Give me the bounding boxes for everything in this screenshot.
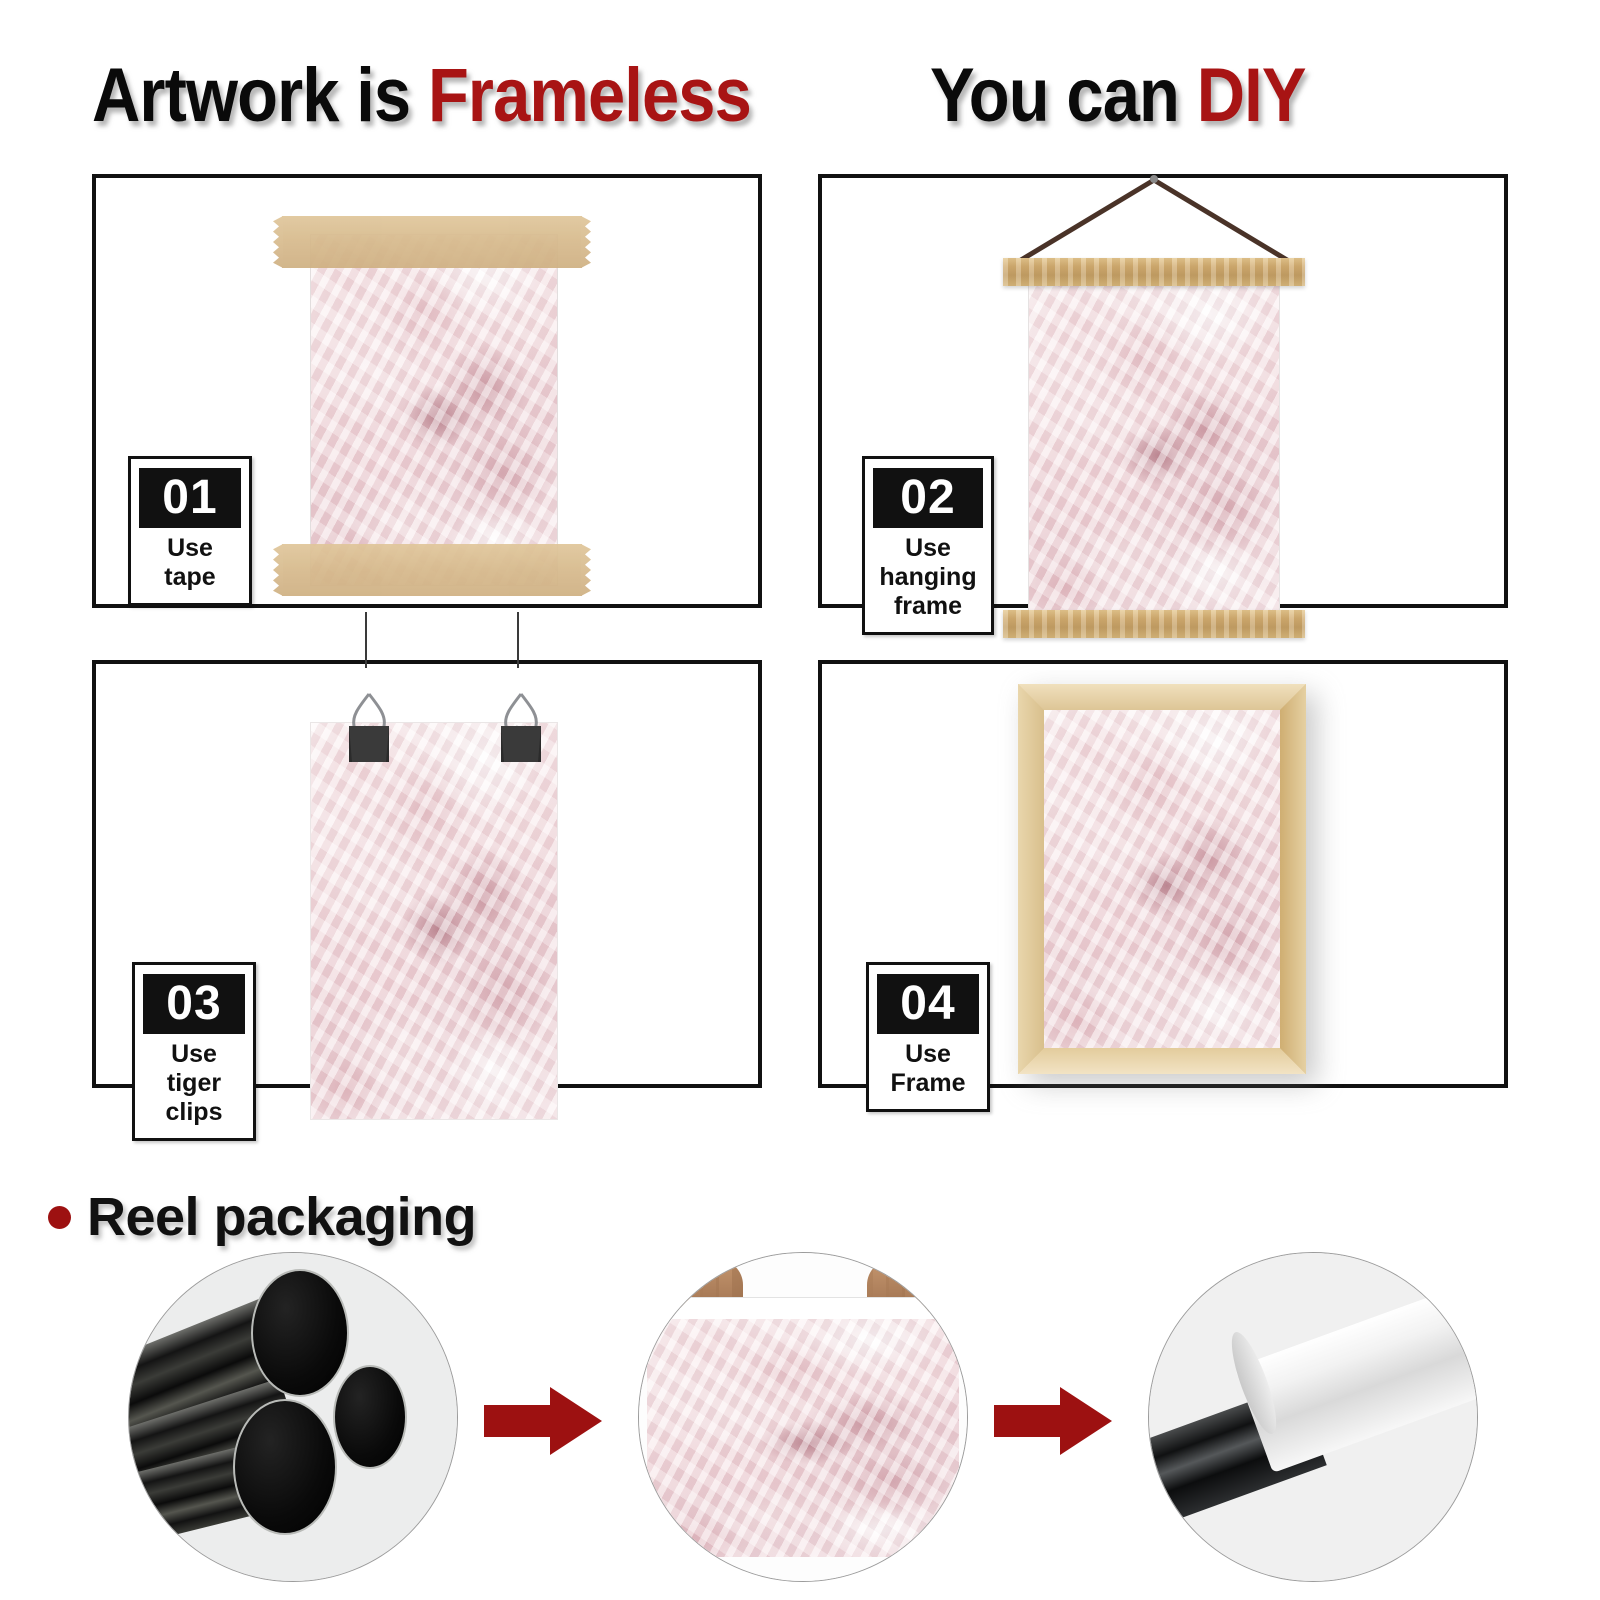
step-badge-03: 03 Use tiger clips bbox=[132, 962, 256, 1141]
artwork-print-tape bbox=[310, 234, 558, 586]
frame-bevel-right bbox=[1280, 684, 1306, 1074]
step-number-04: 04 bbox=[877, 974, 979, 1034]
title-left-accent: Frameless bbox=[428, 53, 751, 138]
process-arrow-2 bbox=[994, 1385, 1114, 1457]
tape-strip-top bbox=[282, 216, 582, 268]
artwork-print-clips bbox=[310, 722, 558, 1120]
title-left-plain: Artwork is bbox=[92, 53, 428, 138]
clip-string-right bbox=[517, 612, 519, 668]
tiger-clip-right bbox=[494, 692, 548, 778]
step-badge-04: 04 Use Frame bbox=[866, 962, 990, 1112]
reel-photo-unrolling bbox=[638, 1252, 968, 1582]
step-badge-01: 01 Use tape bbox=[128, 456, 252, 606]
frame-bevel-left bbox=[1018, 684, 1044, 1074]
step-number-03: 03 bbox=[143, 974, 245, 1034]
capped-tube-image bbox=[1149, 1253, 1477, 1581]
reel-photo-tubes bbox=[128, 1252, 458, 1582]
artwork-print-hanging bbox=[1028, 284, 1280, 614]
wood-bar-top bbox=[1003, 258, 1305, 286]
step-number-02: 02 bbox=[873, 468, 983, 528]
frame-bevel-top bbox=[1018, 684, 1306, 710]
infographic-root: Artwork is Frameless You can DIY bbox=[0, 0, 1600, 1600]
reel-packaging-heading: Reel packaging bbox=[48, 1186, 476, 1248]
step-label-02: Use hanging frame bbox=[873, 534, 983, 621]
reel-photo-capped-tube bbox=[1148, 1252, 1478, 1582]
step-label-04: Use Frame bbox=[877, 1040, 979, 1098]
frame-bevel-bottom bbox=[1018, 1048, 1306, 1074]
title-right-accent: DIY bbox=[1197, 53, 1306, 138]
tiger-clip-left bbox=[342, 692, 396, 778]
artwork-print-framed bbox=[1044, 710, 1280, 1048]
page-title-left: Artwork is Frameless bbox=[92, 58, 751, 134]
title-right-plain: You can bbox=[930, 53, 1197, 138]
tape-strip-bottom bbox=[282, 544, 582, 596]
step-label-01: Use tape bbox=[139, 534, 241, 592]
hands-print-image bbox=[639, 1253, 967, 1581]
step-badge-02: 02 Use hanging frame bbox=[862, 456, 994, 635]
step-number-01: 01 bbox=[139, 468, 241, 528]
page-title-right: You can DIY bbox=[930, 58, 1306, 134]
wooden-frame bbox=[1018, 684, 1306, 1074]
step-label-03: Use tiger clips bbox=[143, 1040, 245, 1127]
hanging-cord bbox=[1003, 170, 1305, 266]
bullet-icon bbox=[48, 1206, 71, 1229]
black-tubes-image bbox=[129, 1253, 457, 1581]
wood-bar-bottom bbox=[1003, 610, 1305, 638]
clip-string-left bbox=[365, 612, 367, 668]
process-arrow-1 bbox=[484, 1385, 604, 1457]
reel-packaging-label: Reel packaging bbox=[87, 1186, 476, 1248]
